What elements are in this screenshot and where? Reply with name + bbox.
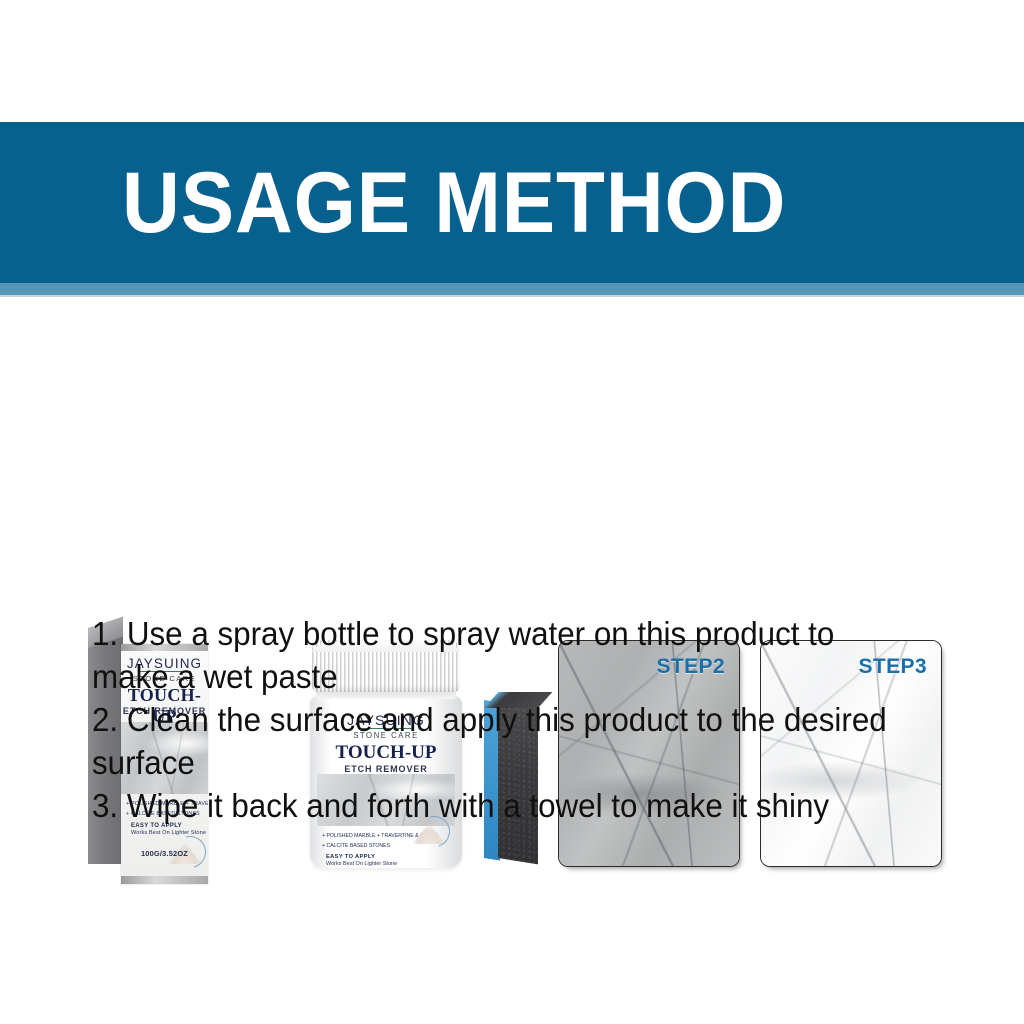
carton-weight: 100G/3.52OZ bbox=[121, 849, 208, 858]
usage-instructions: 1. Use a spray bottle to spray water on … bbox=[92, 612, 909, 827]
banner-accent-strip bbox=[0, 283, 1024, 295]
usage-method-banner: USAGE METHOD bbox=[0, 122, 1024, 283]
instruction-step-3: 3. Wipe it back and forth with a towel t… bbox=[92, 784, 909, 827]
jar-easy-sub: Works Best On Lighter Stone bbox=[326, 861, 397, 867]
banner-strip-edge bbox=[0, 295, 1024, 297]
carton-bottom-bar bbox=[121, 876, 208, 884]
instruction-step-1: 1. Use a spray bottle to spray water on … bbox=[92, 612, 909, 698]
instruction-step-2: 2. Clean the surface and apply this prod… bbox=[92, 698, 909, 784]
banner-title: USAGE METHOD bbox=[122, 160, 786, 246]
jar-easy-title: EASY TO APPLY bbox=[326, 854, 397, 860]
product-image-row: JAYSUING STONE CARE TOUCH-UP ETCH REMOVE… bbox=[0, 300, 1024, 590]
jar-easy-apply: EASY TO APPLY Works Best On Lighter Ston… bbox=[326, 854, 397, 867]
product-usage-infographic: USAGE METHOD JAYSUING STONE CARE TOUCH-U… bbox=[0, 0, 1024, 1024]
carton-easy-sub: Works Best On Lighter Stone bbox=[131, 830, 206, 836]
